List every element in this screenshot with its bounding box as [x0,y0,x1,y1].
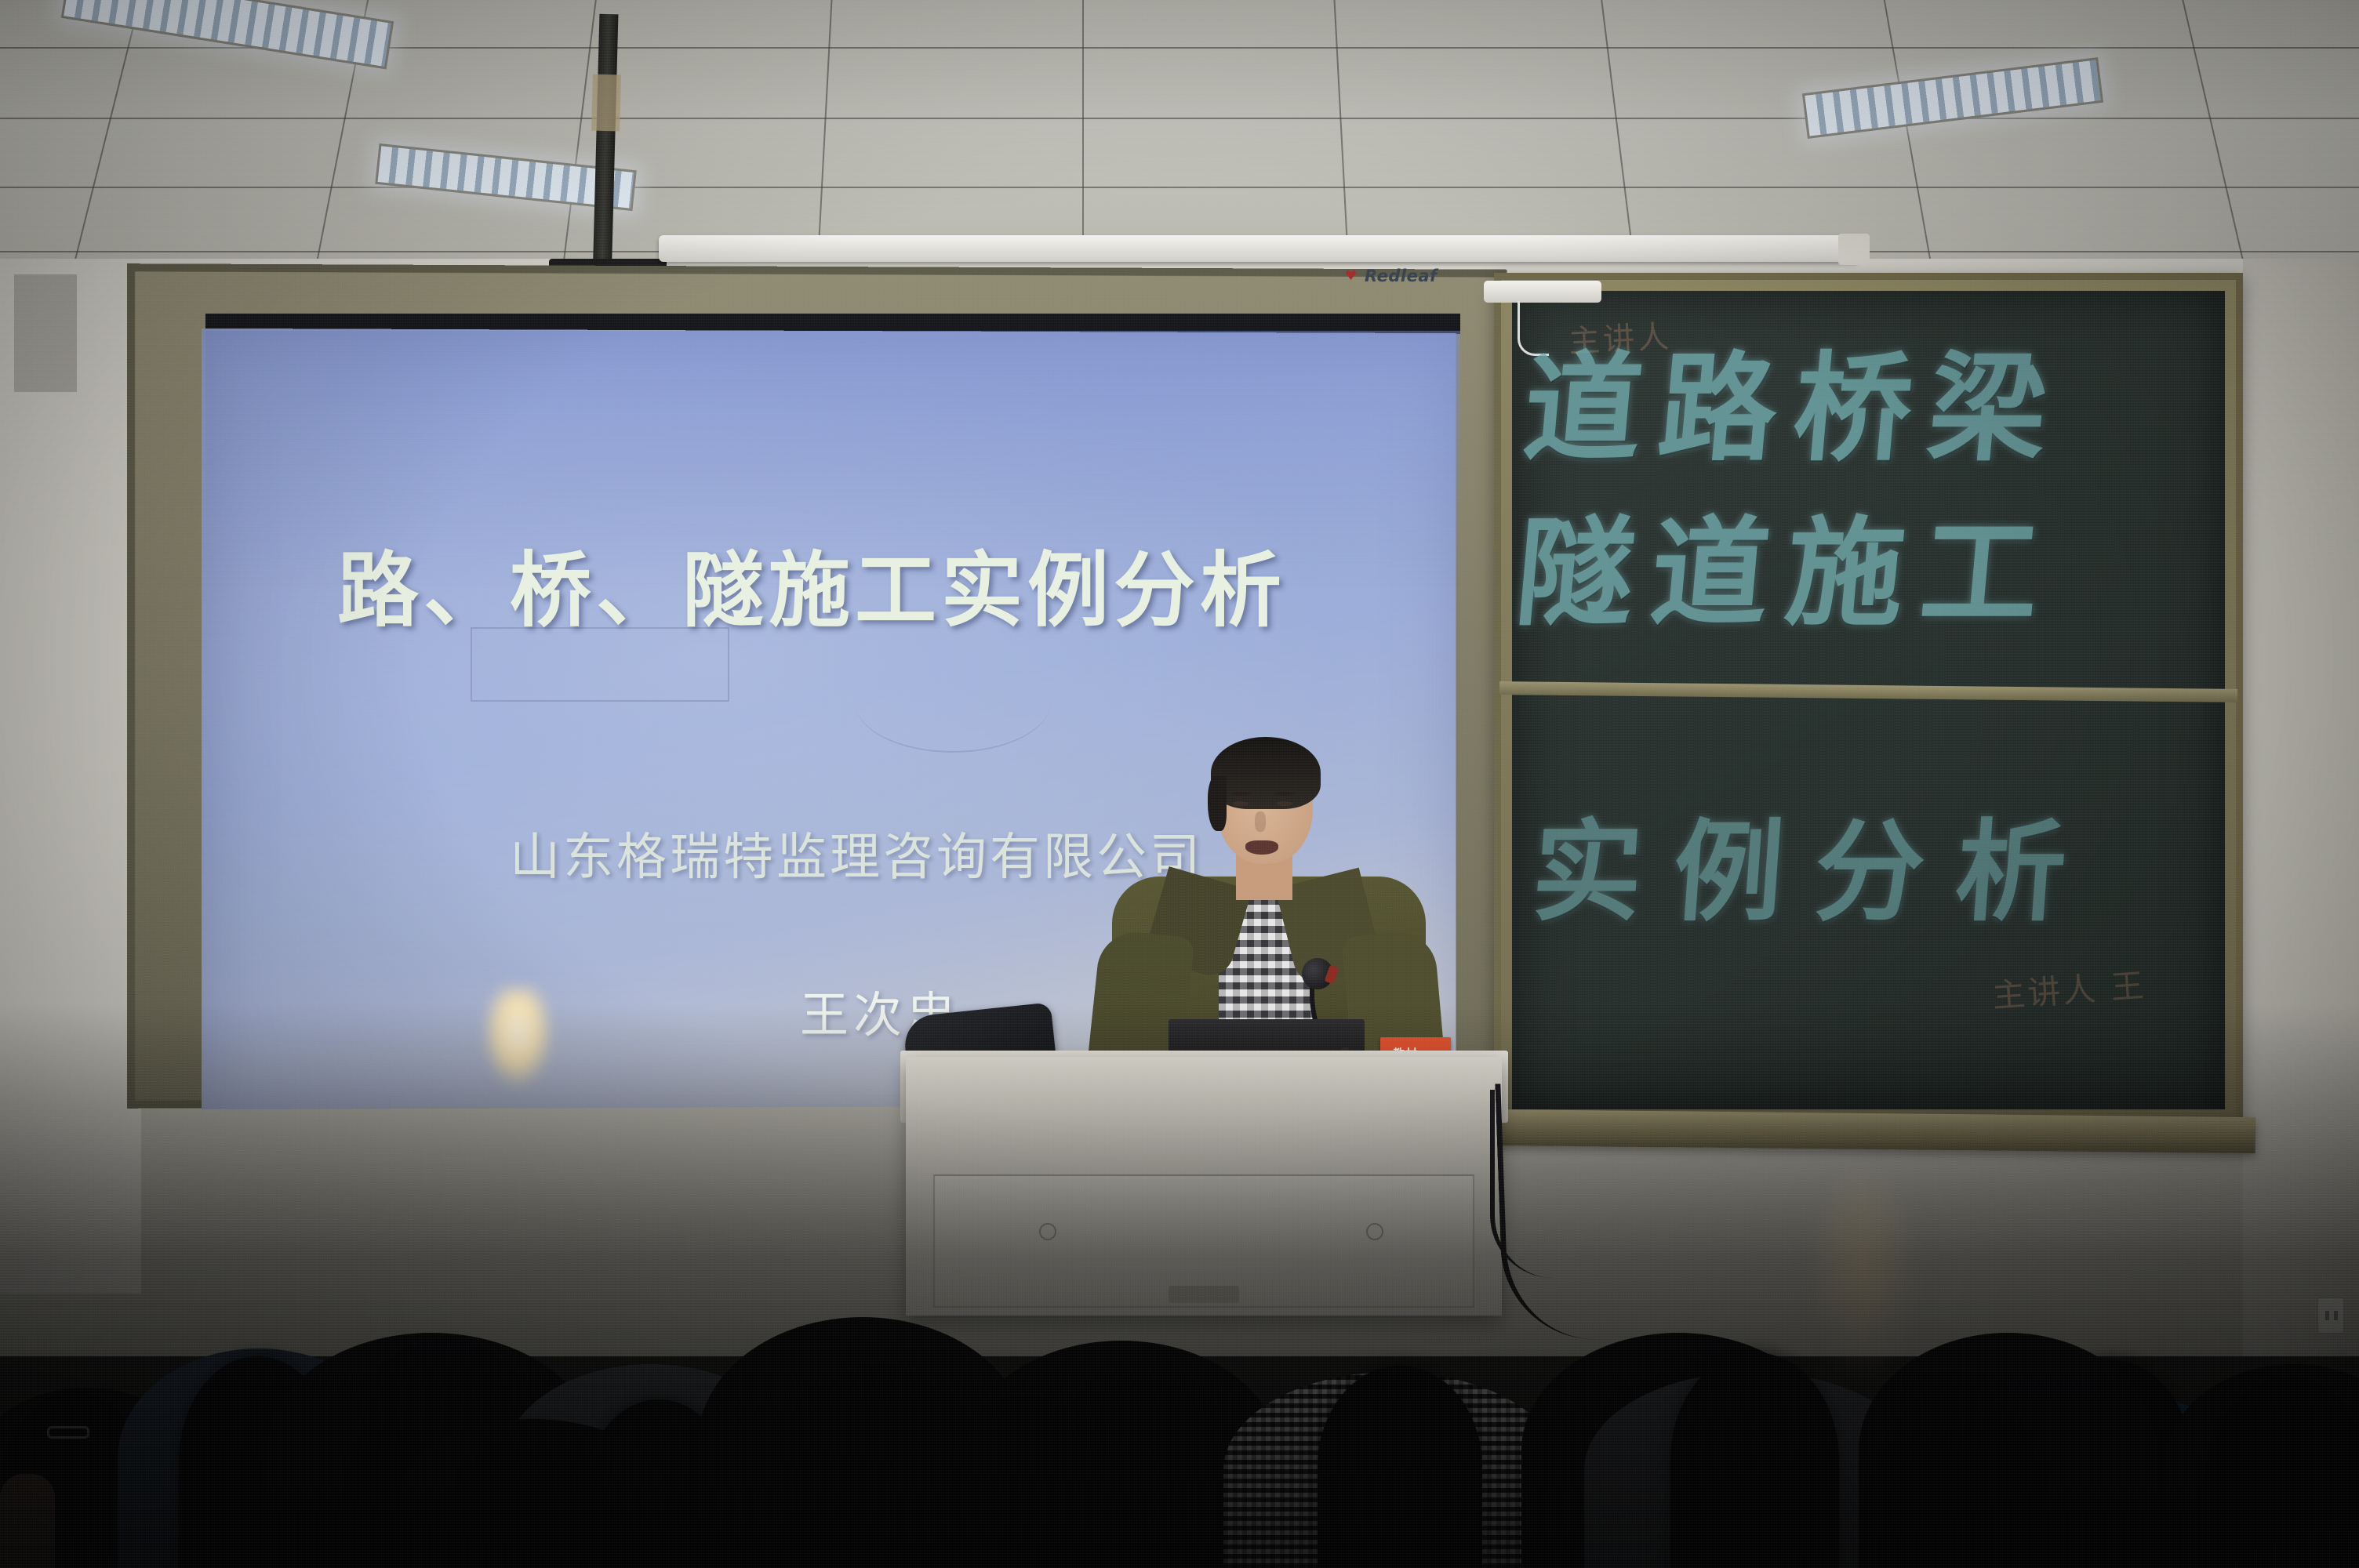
speaker-eye-right [1277,801,1292,806]
audience-hand [0,1474,55,1568]
blackboard-lamp [1484,281,1601,303]
audience-shoulders [886,1411,1169,1568]
audience-shoulders [1584,1372,1921,1568]
lamp-reflection-glow [482,986,553,1088]
audience-head [1318,1366,1482,1568]
wall-vent [14,274,77,392]
audience-shoulders [118,1348,400,1568]
blackboard-line-2: 隧道施工 [1510,478,2065,648]
screen-brand-label: Redleaf [1365,267,1438,285]
podium-knob[interactable] [1366,1223,1383,1240]
screen-roller-end-cap [1838,234,1870,265]
podium-knob[interactable] [1039,1223,1056,1240]
audience-shoulders [267,1333,596,1568]
audience-head [471,1427,600,1568]
speaker-nose [1255,811,1266,832]
audience-head [1670,1352,1839,1568]
speaker-mouth [1245,840,1278,855]
slide-faint-arc [855,651,1051,753]
audience-shoulders [965,1341,1278,1568]
speaker-hair [1211,737,1321,809]
pole-tape-wrap [591,74,621,132]
power-outlet[interactable] [2317,1298,2344,1334]
speaker-eyebrow-left [1230,792,1251,796]
audience-head [361,1360,529,1568]
audience-shoulders [1937,1388,2251,1568]
audience-head [8,1396,141,1568]
audience-head [1067,1384,1219,1568]
audience-head [2212,1380,2359,1568]
audience-shoulders [2165,1364,2359,1568]
speaker-eyebrow-right [1274,792,1295,796]
audience-shoulders [400,1419,667,1568]
lecture-hall-photo: Redleaf 路、桥、隧施工实例分析 山东格瑞特监理咨询有限公司 王次忠 主讲… [0,0,2359,1568]
audience-head [588,1399,729,1568]
audience-head [800,1372,961,1568]
eyeglasses-icon [47,1426,89,1439]
audience-shoulders [1223,1372,1561,1568]
audience-shoulders [1521,1333,1835,1568]
slide-title: 路、桥、隧施工实例分析 [337,524,1474,642]
blackboard-line-3: 实例分析 [1528,784,2103,942]
audience-shoulders [502,1364,800,1568]
audience-head [179,1356,336,1568]
audience-head [1608,1376,1761,1568]
blackboard-line-1: 道路桥梁 [1518,314,2073,484]
audience-shoulders [0,1388,204,1568]
left-wall-panel [0,259,141,1294]
audience-head [1882,1392,2031,1568]
speaker-eye-left [1233,801,1249,806]
audience-head [957,1415,1094,1568]
right-wall [2243,259,2359,1356]
screen-roller-housing[interactable] [659,235,1859,262]
speaker-hair-side [1208,776,1227,831]
podium-vent-slot [1169,1286,1239,1303]
wall-light-glow [1804,1160,1921,1380]
audience-head [2031,1360,2192,1568]
